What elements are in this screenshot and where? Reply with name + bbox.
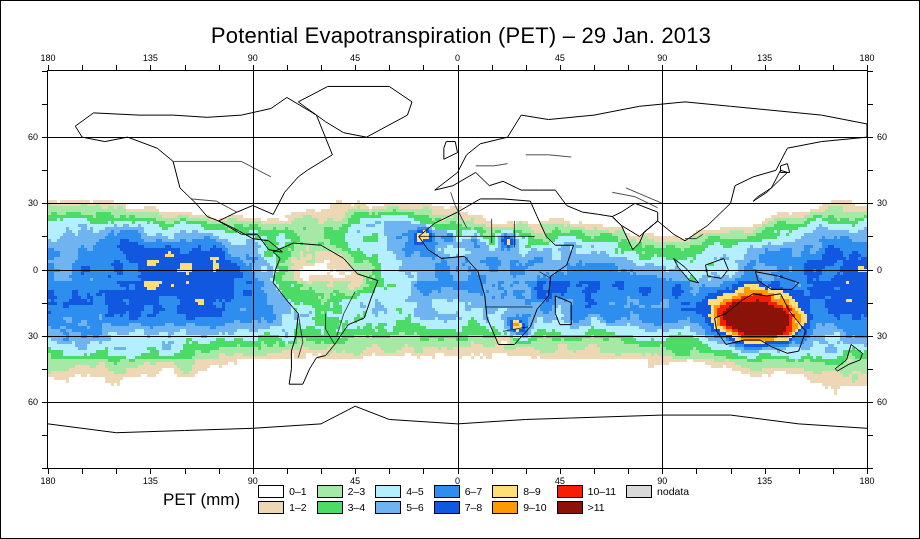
x-tick-label-bottom: 180 — [40, 476, 55, 486]
legend-item: 4–5 — [375, 484, 424, 499]
x-axis-tick — [526, 468, 527, 474]
y-axis-tick — [42, 270, 48, 271]
x-axis-tick — [696, 468, 697, 474]
x-tick-label-top: 135 — [143, 53, 158, 63]
y-axis-tick — [42, 137, 48, 138]
y-axis-tick — [867, 336, 873, 337]
x-axis-tick — [765, 65, 766, 71]
y-axis-tick — [42, 468, 48, 469]
legend-item: 8–9 — [492, 484, 546, 499]
x-axis-tick — [82, 468, 83, 474]
y-axis-tick — [867, 402, 873, 403]
x-axis-tick — [594, 468, 595, 474]
x-axis-tick — [731, 65, 732, 71]
legend-item-label: nodata — [657, 486, 689, 498]
x-tick-label-top: 90 — [248, 53, 258, 63]
parallel-gridline — [48, 137, 867, 138]
legend-item-label: 7–8 — [465, 502, 483, 514]
legend-item-label: 9–10 — [523, 502, 546, 514]
x-tick-label-bottom: 180 — [859, 476, 874, 486]
x-axis-tick — [560, 65, 561, 71]
legend-item: 7–8 — [434, 500, 483, 515]
x-axis-tick — [355, 65, 356, 71]
legend: PET (mm) 0–11–22–33–44–55–66–77–88–99–10… — [163, 484, 689, 515]
x-axis-tick — [594, 65, 595, 71]
x-axis-tick — [219, 65, 220, 71]
y-axis-tick — [42, 71, 48, 72]
legend-item: 5–6 — [375, 500, 424, 515]
x-tick-label-bottom: 135 — [143, 476, 158, 486]
x-axis-tick — [48, 468, 49, 474]
legend-color-swatch — [258, 501, 284, 514]
x-axis-tick — [150, 468, 151, 474]
legend-color-swatch — [492, 501, 518, 514]
y-tick-label-left: 60 — [28, 397, 38, 407]
y-axis-tick — [867, 270, 873, 271]
x-axis-tick — [526, 65, 527, 71]
legend-item-label: 1–2 — [289, 502, 307, 514]
x-axis-tick — [389, 468, 390, 474]
legend-color-swatch — [557, 501, 583, 514]
x-axis-tick — [833, 468, 834, 474]
legend-color-swatch — [434, 485, 460, 498]
x-tick-label-top: 135 — [757, 53, 772, 63]
x-axis-tick — [799, 468, 800, 474]
x-axis-tick — [492, 65, 493, 71]
legend-color-swatch — [375, 485, 401, 498]
legend-item: 10–11 — [557, 484, 616, 499]
x-axis-tick — [82, 65, 83, 71]
y-tick-label-left: 30 — [28, 198, 38, 208]
parallel-gridline — [48, 203, 867, 204]
legend-item-label: 5–6 — [406, 502, 424, 514]
legend-color-swatch — [557, 485, 583, 498]
x-axis-tick — [765, 468, 766, 474]
legend-item-label: 3–4 — [348, 502, 366, 514]
x-axis-tick — [560, 468, 561, 474]
x-axis-tick — [185, 65, 186, 71]
legend-item: 1–2 — [258, 500, 307, 515]
x-axis-tick — [150, 65, 151, 71]
legend-item: 9–10 — [492, 500, 546, 515]
x-axis-tick — [662, 65, 663, 71]
y-tick-label-right: 30 — [877, 331, 887, 341]
x-axis-tick — [628, 468, 629, 474]
x-tick-label-top: 180 — [859, 53, 874, 63]
x-axis-tick — [185, 468, 186, 474]
x-axis-tick — [321, 468, 322, 474]
y-axis-tick — [867, 369, 873, 370]
legend-color-swatch — [258, 485, 284, 498]
legend-color-swatch — [317, 485, 343, 498]
y-axis-tick — [42, 369, 48, 370]
x-axis-tick — [116, 65, 117, 71]
x-axis-tick — [321, 65, 322, 71]
y-tick-label-right: 0 — [877, 265, 882, 275]
x-tick-label-bottom: 135 — [757, 476, 772, 486]
y-axis-tick — [867, 303, 873, 304]
legend-color-swatch — [492, 485, 518, 498]
y-tick-label-left: 0 — [33, 265, 38, 275]
x-axis-tick — [389, 65, 390, 71]
x-axis-tick — [833, 65, 834, 71]
legend-item: >11 — [557, 500, 616, 515]
y-tick-label-right: 60 — [877, 397, 887, 407]
y-tick-label-right: 30 — [877, 198, 887, 208]
y-axis-tick — [867, 203, 873, 204]
x-axis-tick — [662, 468, 663, 474]
x-axis-tick — [799, 65, 800, 71]
legend-item: 2–3 — [317, 484, 366, 499]
x-tick-label-top: 0 — [455, 53, 460, 63]
x-tick-label-top: 90 — [657, 53, 667, 63]
y-axis-tick — [867, 170, 873, 171]
parallel-gridline — [48, 402, 867, 403]
x-tick-label-top: 180 — [40, 53, 55, 63]
x-axis-tick — [731, 468, 732, 474]
x-tick-label-top: 45 — [350, 53, 360, 63]
legend-color-swatch — [626, 485, 652, 498]
y-tick-label-left: 30 — [28, 331, 38, 341]
figure-panel: Potential Evapotranspiration (PET) – 29 … — [0, 0, 920, 539]
chart-title: Potential Evapotranspiration (PET) – 29 … — [1, 23, 920, 49]
legend-swatch-grid: 0–11–22–33–44–55–66–77–88–99–1010–11>11n… — [258, 484, 689, 515]
y-axis-tick — [867, 435, 873, 436]
legend-item: 6–7 — [434, 484, 483, 499]
y-axis-tick — [42, 236, 48, 237]
legend-item-label: 10–11 — [588, 486, 616, 498]
x-axis-tick — [423, 65, 424, 71]
y-axis-tick — [867, 71, 873, 72]
y-axis-tick — [42, 336, 48, 337]
y-axis-tick — [42, 203, 48, 204]
legend-item: 0–1 — [258, 484, 307, 499]
legend-item-label: 4–5 — [406, 486, 424, 498]
y-axis-tick — [42, 303, 48, 304]
legend-title: PET (mm) — [163, 490, 240, 510]
x-tick-label-top: 45 — [555, 53, 565, 63]
x-axis-tick — [355, 468, 356, 474]
x-axis-tick — [219, 468, 220, 474]
parallel-gridline — [48, 336, 867, 337]
x-axis-tick — [253, 65, 254, 71]
x-axis-tick — [458, 65, 459, 71]
y-axis-tick — [42, 104, 48, 105]
x-axis-tick — [48, 65, 49, 71]
x-axis-tick — [458, 468, 459, 474]
x-axis-tick — [287, 65, 288, 71]
x-axis-tick — [423, 468, 424, 474]
legend-color-swatch — [317, 501, 343, 514]
x-axis-tick — [253, 468, 254, 474]
y-axis-tick — [867, 468, 873, 469]
y-tick-label-left: 60 — [28, 132, 38, 142]
parallel-gridline — [48, 270, 867, 271]
x-axis-tick — [287, 468, 288, 474]
legend-color-swatch — [434, 501, 460, 514]
y-axis-tick — [867, 236, 873, 237]
x-axis-tick — [492, 468, 493, 474]
y-tick-label-right: 60 — [877, 132, 887, 142]
y-axis-tick — [42, 170, 48, 171]
legend-item-label: 2–3 — [348, 486, 366, 498]
legend-color-swatch — [375, 501, 401, 514]
x-axis-tick — [116, 468, 117, 474]
x-axis-tick — [628, 65, 629, 71]
map-plot-area: 1801801351359090454500454590901351351801… — [48, 71, 867, 468]
legend-item-label: >11 — [588, 502, 605, 514]
y-axis-tick — [867, 104, 873, 105]
x-axis-tick — [696, 65, 697, 71]
legend-item-label: 0–1 — [289, 486, 307, 498]
legend-item-label: 6–7 — [465, 486, 483, 498]
y-axis-tick — [867, 137, 873, 138]
y-axis-tick — [42, 402, 48, 403]
legend-item: nodata — [626, 484, 689, 499]
legend-item: 3–4 — [317, 500, 366, 515]
legend-item-label: 8–9 — [523, 486, 541, 498]
y-axis-tick — [42, 435, 48, 436]
